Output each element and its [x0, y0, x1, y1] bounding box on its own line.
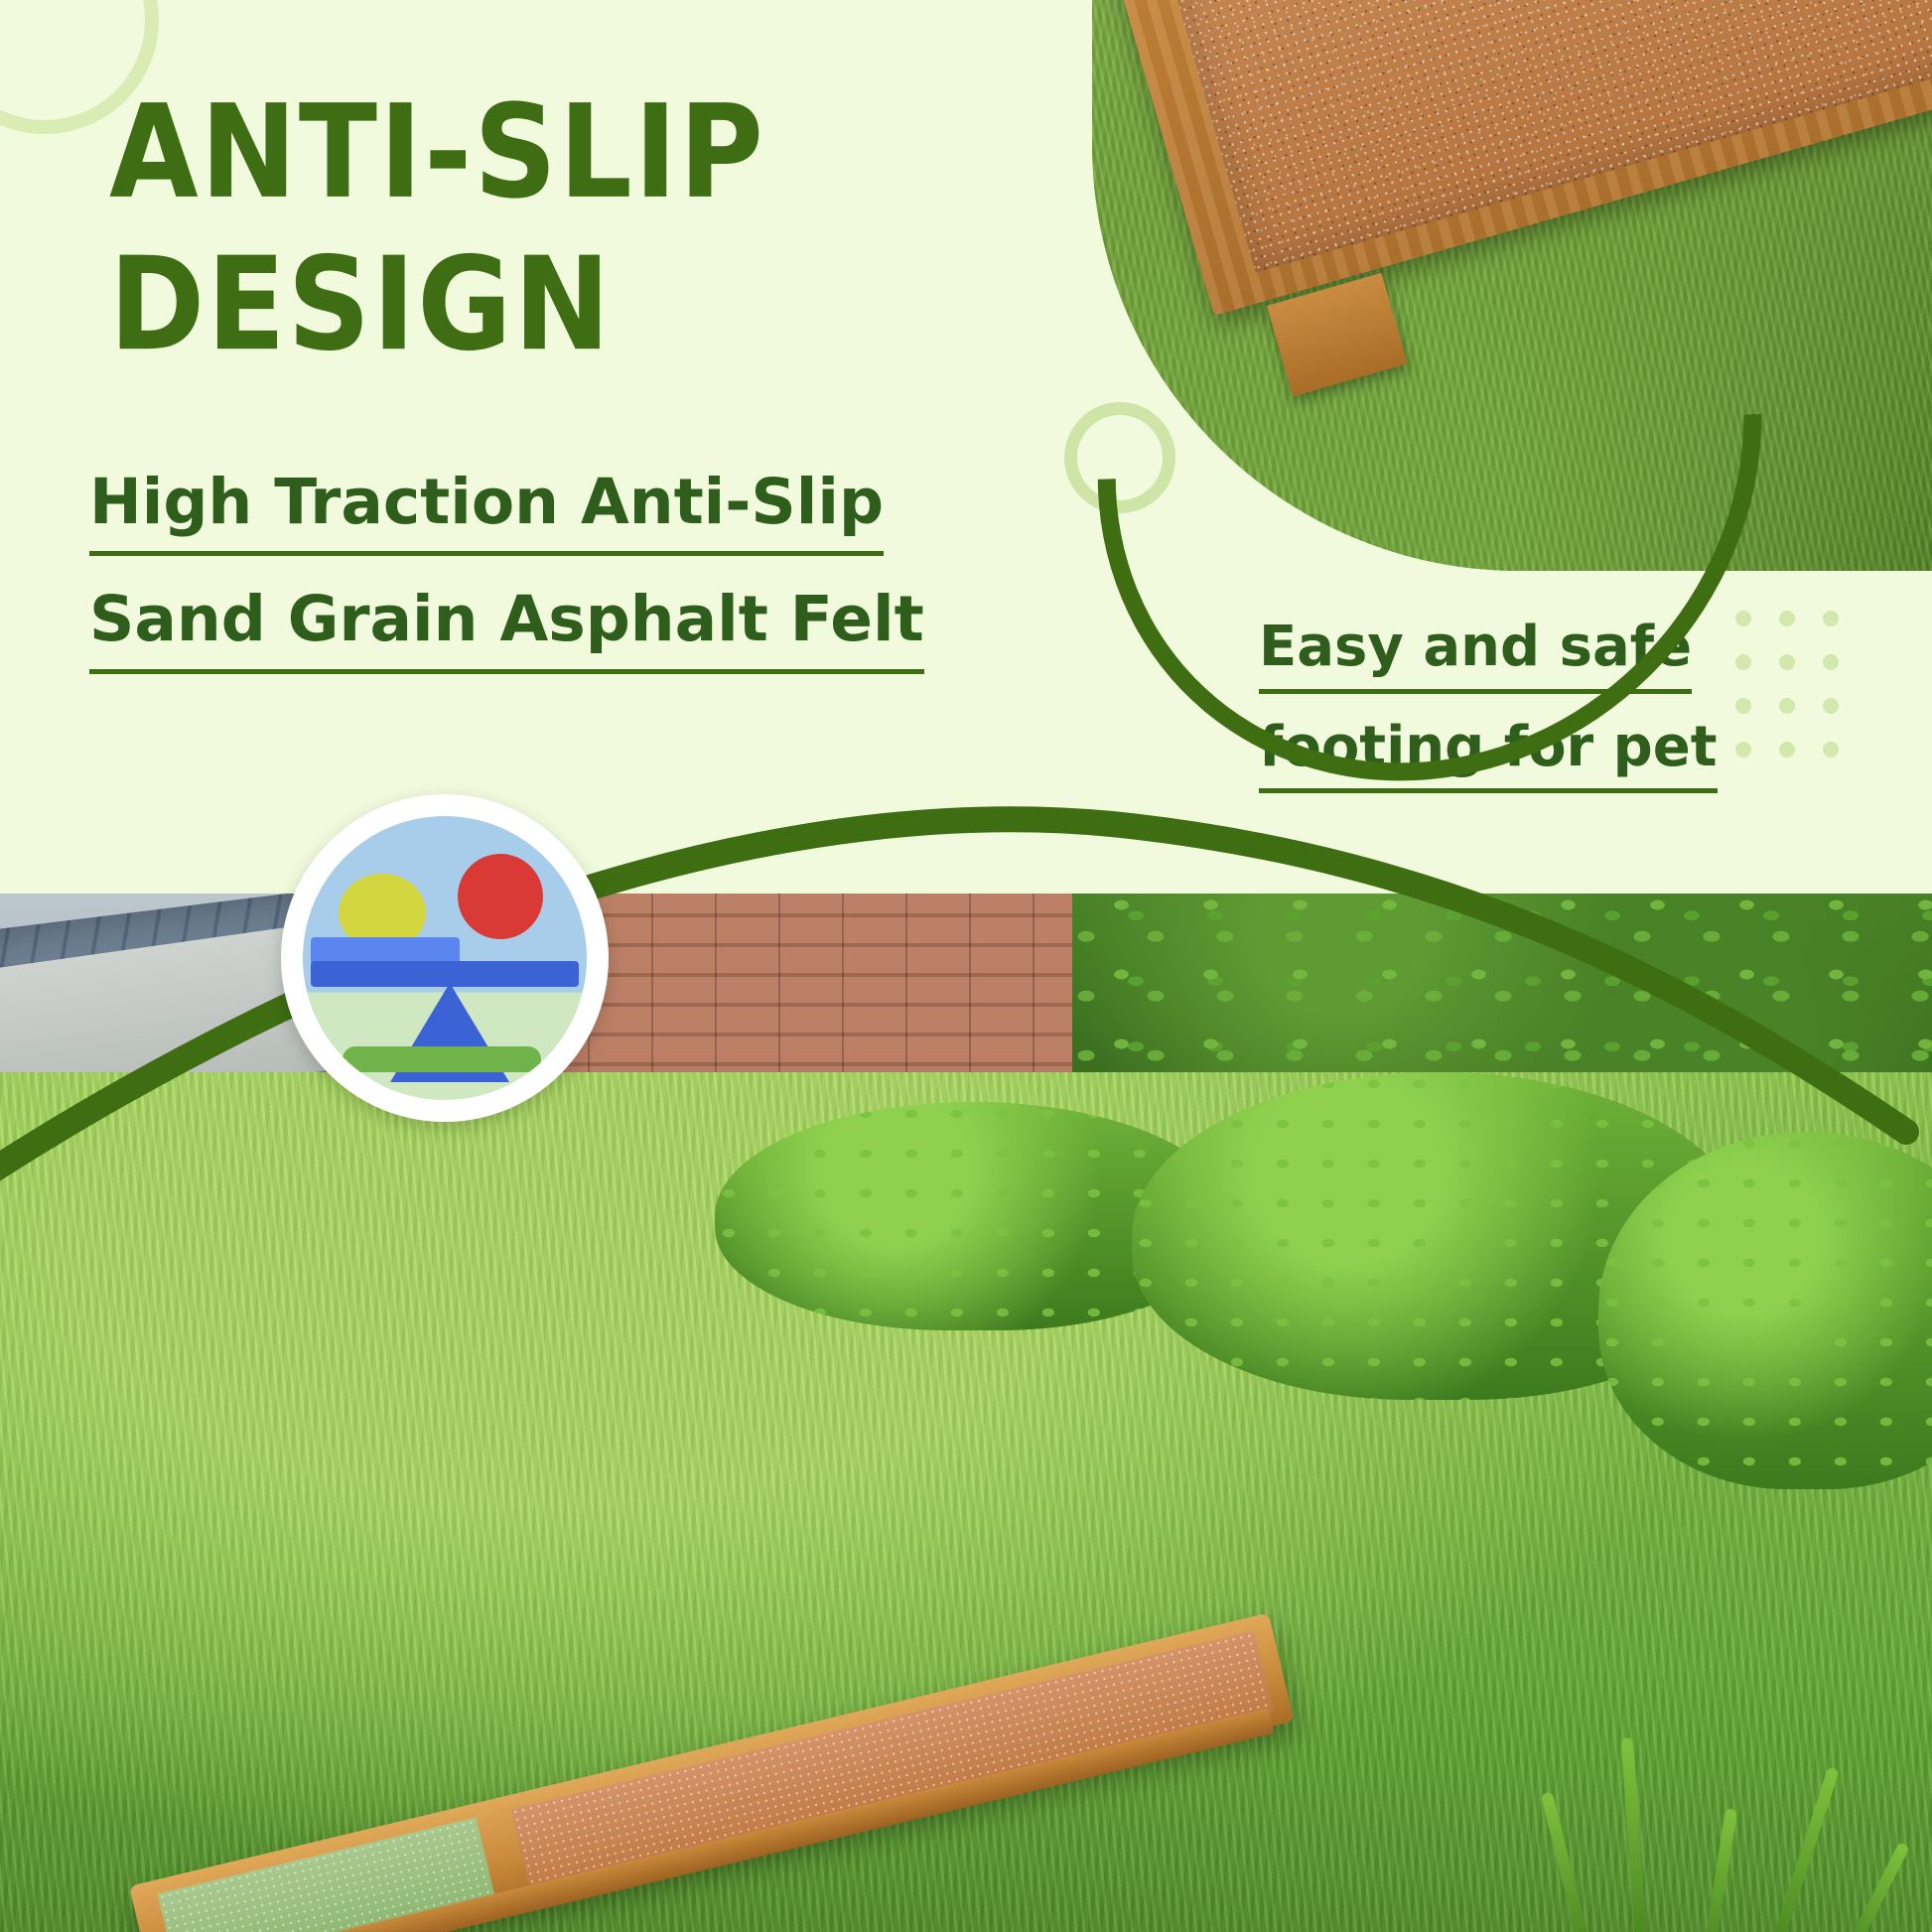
dot-grid-right	[1735, 611, 1866, 785]
pet-seesaw-photo	[0, 894, 1932, 1932]
pet-seesaw-product	[109, 1747, 1350, 1932]
headline-line-2: DESIGN	[109, 229, 884, 381]
page-title: ANTI-SLIP DESIGN	[109, 77, 884, 382]
seesaw-icon	[303, 816, 587, 1100]
subheading-line-2: Sand Grain Asphalt Felt	[89, 574, 924, 673]
foreground-plant	[1549, 1658, 1932, 1932]
subheading: High Traction Anti-Slip Sand Grain Aspha…	[89, 457, 943, 674]
seesaw-icon-badge	[281, 794, 609, 1122]
marketing-banner: ANTI-SLIP DESIGN High Traction Anti-Slip…	[0, 0, 1932, 1932]
headline-line-1: ANTI-SLIP	[109, 77, 884, 229]
subheading-line-1: High Traction Anti-Slip	[89, 457, 884, 556]
